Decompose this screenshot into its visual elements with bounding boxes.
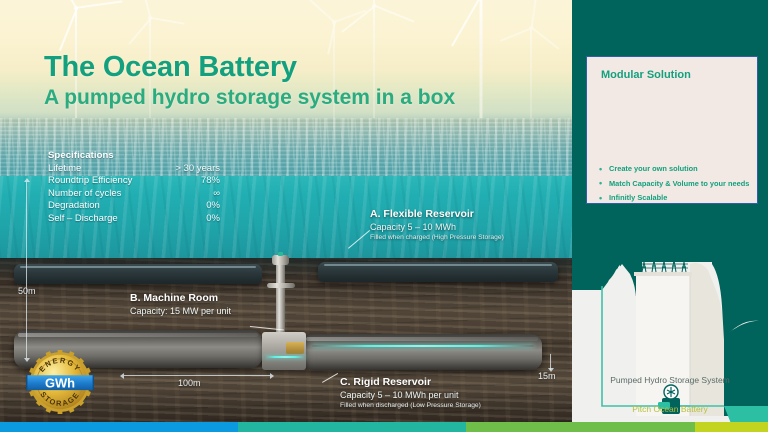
spec-value: 0% — [206, 213, 220, 225]
callout-machine-room: B. Machine Room Capacity: 15 MW per unit — [130, 292, 320, 317]
depth-dimension-line — [26, 182, 27, 358]
badge-ribbon: GWh — [26, 372, 94, 392]
wind-turbine — [348, 6, 400, 131]
callout-flexible-reservoir: A. Flexible Reservoir Capacity 5 – 10 MW… — [370, 208, 560, 242]
badge-icon: ENERGY STORAGE GWh — [26, 348, 94, 416]
turbine-mast — [530, 28, 532, 132]
bullet-item: Create your own solution — [597, 162, 755, 177]
riser-top-marker — [278, 252, 283, 256]
page-title: The Ocean Battery — [44, 52, 297, 82]
turbine-blade — [451, 0, 483, 46]
reservoir-glow-right — [312, 345, 534, 347]
modular-solution-card: Modular Solution Create your own solutio… — [586, 56, 758, 204]
spec-value: 78% — [201, 175, 220, 187]
footer-caption: Pitch Ocean Battery — [572, 404, 768, 414]
callout-title: A. Flexible Reservoir — [370, 208, 560, 221]
turbine-hub — [529, 26, 533, 30]
slide-root: The Ocean Battery A pumped hydro storage… — [0, 0, 768, 432]
callout-note: Filled when charged (High Pressure Stora… — [370, 233, 560, 242]
depth-arrow-up — [24, 178, 30, 182]
bullet-item: Infinitly Scalable — [597, 191, 755, 206]
callout-capacity: Capacity 5 – 10 MWh per unit — [340, 389, 540, 401]
badge-ribbon-text: GWh — [45, 375, 75, 390]
callout-title: C. Rigid Reservoir — [340, 376, 540, 389]
spec-row: Self – Discharge 0% — [48, 213, 220, 225]
energy-storage-badge: ENERGY STORAGE GWh — [26, 348, 94, 416]
turbine-hub — [372, 4, 376, 8]
riser-collar — [267, 283, 295, 288]
callout-rigid-reservoir: C. Rigid Reservoir Capacity 5 – 10 MWh p… — [340, 376, 540, 410]
turbine-mast — [333, 22, 335, 130]
page-subtitle: A pumped hydro storage system in a box — [44, 86, 455, 109]
bar-segment-green — [466, 422, 695, 432]
turbine-hub — [74, 6, 78, 10]
spec-label: Self – Discharge — [48, 213, 118, 225]
wind-turbine — [508, 28, 554, 132]
spec-row: Lifetime > 30 years — [48, 163, 220, 175]
bladder-highlight — [324, 264, 552, 266]
length-dimension-line — [124, 375, 270, 376]
flexible-reservoir-left — [14, 264, 262, 284]
machine-room-glow — [264, 356, 306, 358]
spec-label: Degradation — [48, 200, 100, 212]
callout-title: B. Machine Room — [130, 292, 320, 305]
callout-capacity: Capacity: 15 MW per unit — [130, 305, 320, 317]
callout-note: Filled when discharged (Low Pressure Sto… — [340, 401, 540, 410]
diagram-caption: Pumped Hydro Storage System — [572, 375, 768, 385]
turbine-mast — [373, 6, 375, 131]
spec-value: > 30 years — [175, 163, 220, 175]
bottom-color-bar — [0, 422, 768, 432]
riser-cap — [272, 255, 289, 265]
bar-segment-blue — [0, 422, 238, 432]
spec-row: Roundtrip Efficiency 78% — [48, 175, 220, 187]
specifications-heading: Specifications — [48, 150, 220, 161]
machine-room-panel — [286, 342, 304, 354]
bullet-item: Match Capacity & Volume to your needs — [597, 177, 755, 192]
length-arrow-left — [120, 373, 124, 379]
depth-label: 50m — [18, 286, 36, 296]
length-arrow-right — [270, 373, 274, 379]
bar-segment-teal — [238, 422, 467, 432]
spec-value: ∞ — [213, 188, 220, 200]
bladder-highlight — [20, 266, 256, 268]
turbine-hub — [332, 20, 336, 24]
specifications-panel: Specifications Lifetime > 30 years Round… — [48, 150, 220, 225]
callout-capacity: Capacity 5 – 10 MWh — [370, 221, 560, 233]
tank-sheen — [18, 333, 258, 337]
spec-label: Number of cycles — [48, 188, 121, 200]
height-label: 15m — [538, 371, 556, 381]
bar-segment-lime — [695, 422, 768, 432]
modular-solution-bullets: Create your own solution Match Capacity … — [597, 162, 755, 206]
spec-row: Number of cycles ∞ — [48, 188, 220, 200]
ocean-scene: The Ocean Battery A pumped hydro storage… — [0, 0, 572, 432]
length-label: 100m — [178, 378, 201, 388]
modular-solution-title: Modular Solution — [601, 69, 691, 81]
right-panel: Modular Solution Create your own solutio… — [572, 0, 768, 432]
spec-row: Degradation 0% — [48, 200, 220, 212]
spec-value: 0% — [206, 200, 220, 212]
flexible-reservoir-right — [318, 262, 558, 282]
turbine-hub — [148, 16, 152, 20]
spec-label: Roundtrip Efficiency — [48, 175, 132, 187]
spec-label: Lifetime — [48, 163, 81, 175]
turbine-blade — [128, 17, 151, 44]
rigid-reservoir-right — [302, 334, 542, 370]
tank-sheen — [306, 337, 538, 341]
